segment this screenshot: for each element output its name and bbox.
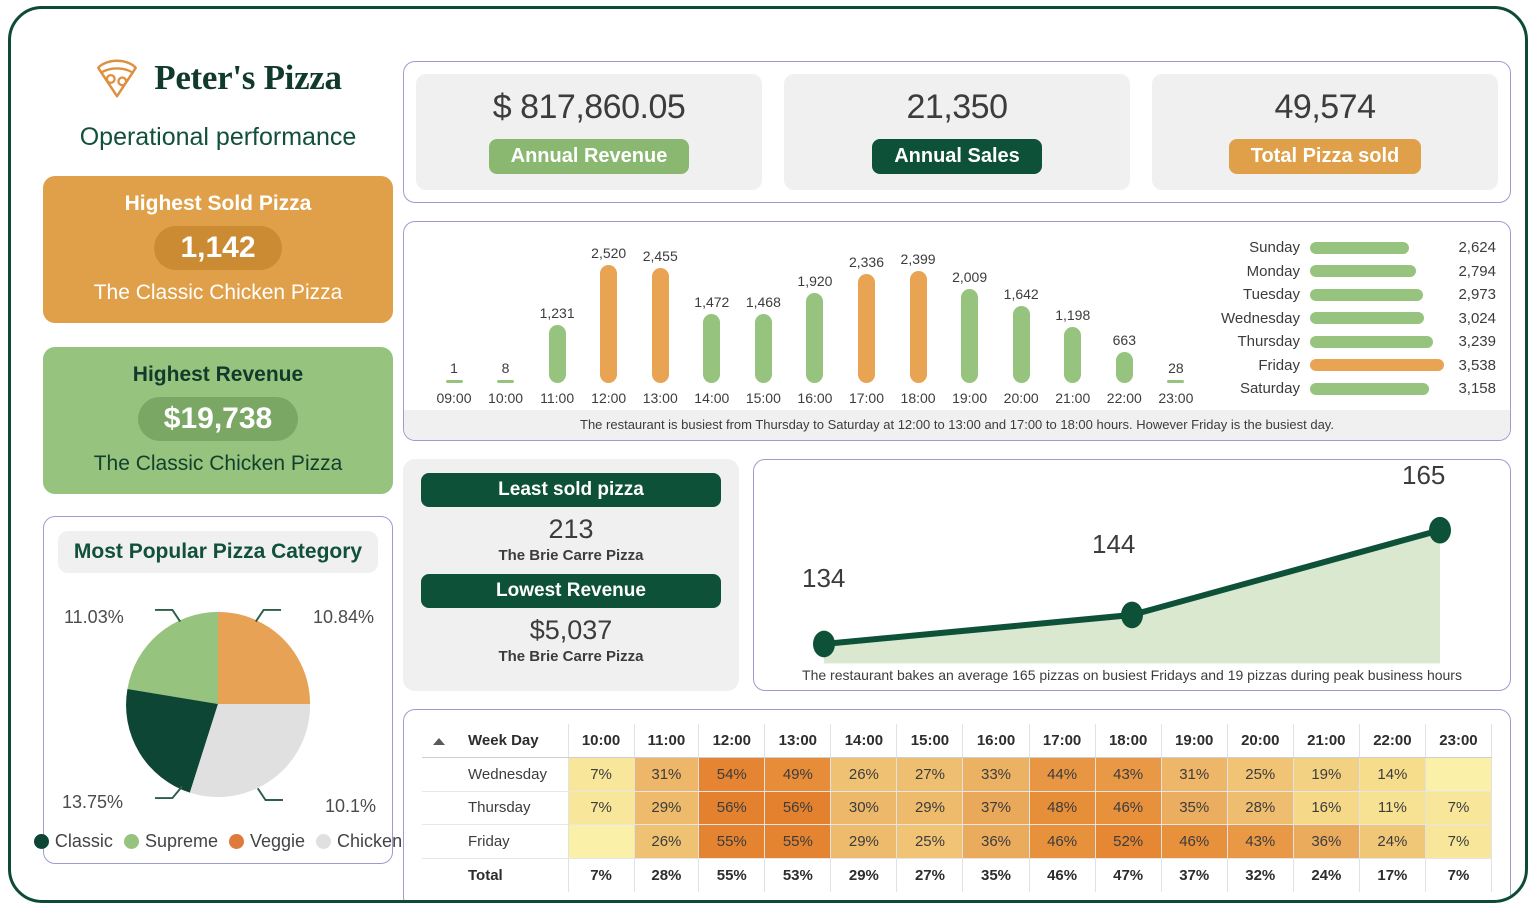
heatmap-cell[interactable]: 28% (1227, 791, 1293, 825)
heatmap-cell[interactable]: 27% (897, 758, 963, 792)
heatmap-cell[interactable]: 46% (1161, 825, 1227, 859)
hour-column-header[interactable]: 12:00 (699, 724, 765, 758)
heatmap-cell[interactable] (1425, 758, 1491, 792)
weekday-bar-row: Friday3,538 (1214, 354, 1496, 378)
heatmap-cell[interactable]: 46% (1029, 825, 1095, 859)
weekday-bar-row: Monday2,794 (1214, 260, 1496, 284)
weekday-value: 3,538 (1444, 357, 1496, 374)
weekday-value: 2,624 (1444, 239, 1496, 256)
heatmap-cell[interactable]: 26% (634, 825, 699, 859)
hour-bar-column: 2,45513:00 (636, 234, 684, 406)
sort-column-header[interactable] (422, 724, 456, 758)
heatmap-cell[interactable]: 56% (765, 791, 831, 825)
pie-legend: Classic Supreme Veggie Chicken (58, 831, 378, 852)
hour-bar-label: 17:00 (849, 390, 884, 406)
area-label-2: 144 (1092, 529, 1135, 560)
row-day-label: Thursday (456, 791, 568, 825)
weekday-sales-bar-chart: Sunday2,624Monday2,794Tuesday2,973Wednes… (1200, 234, 1500, 406)
hour-bar-value: 2,520 (591, 245, 626, 261)
weekday-name: Wednesday (1214, 310, 1310, 327)
hour-bar-value: 8 (502, 360, 510, 376)
heatmap-cell[interactable]: 27% (897, 858, 963, 892)
hour-bar[interactable] (910, 271, 927, 383)
heatmap-cell[interactable]: 26% (831, 758, 897, 792)
hour-bar-value: 2,455 (643, 248, 678, 264)
weekday-value: 3,024 (1444, 310, 1496, 327)
weekday-bar-row: Sunday2,624 (1214, 236, 1496, 260)
area-label-3: 165 (1402, 460, 1445, 491)
weekday-name: Friday (1214, 357, 1310, 374)
heatmap-cell[interactable]: 49% (765, 758, 831, 792)
heatmap-cell[interactable]: 55% (699, 825, 765, 859)
hour-bar-column: 2,33617:00 (843, 234, 891, 406)
hour-bar-label: 22:00 (1107, 390, 1142, 406)
hour-bar-column: 1,47214:00 (688, 234, 736, 406)
hour-bar-label: 09:00 (436, 390, 471, 406)
heatmap-cell[interactable]: 55% (699, 858, 765, 892)
week-day-header[interactable]: Week Day (456, 724, 568, 758)
weekday-bar[interactable] (1310, 312, 1424, 324)
least-sold-value: 213 (421, 514, 721, 545)
brand-header: Peter's Pizza (43, 47, 393, 109)
heatmap-cell[interactable] (568, 825, 634, 859)
card-footer: The Classic Chicken Pizza (57, 452, 379, 476)
row-day-label: Total (456, 858, 568, 892)
hour-column-header[interactable]: 16:00 (963, 724, 1029, 758)
hour-bar[interactable] (652, 268, 669, 383)
heatmap-cell[interactable]: 31% (1161, 758, 1227, 792)
row-spacer-cell (422, 825, 456, 859)
heatmap-cell[interactable]: 29% (831, 858, 897, 892)
weekday-bar-row: Thursday3,239 (1214, 330, 1496, 354)
heatmap-cell[interactable]: 19% (1293, 758, 1359, 792)
hour-bar-label: 10:00 (488, 390, 523, 406)
heatmap-cell[interactable]: 16% (1293, 791, 1359, 825)
heatmap-cell[interactable]: 7% (1425, 791, 1491, 825)
weekday-bar-track (1310, 359, 1444, 371)
hour-bar-label: 16:00 (797, 390, 832, 406)
lowest-revenue-sub: The Brie Carre Pizza (421, 648, 721, 665)
legend-label: Veggie (250, 831, 305, 852)
least-sold-sub: The Brie Carre Pizza (421, 547, 721, 564)
weekday-bar[interactable] (1310, 265, 1416, 277)
sort-ascending-triangle-icon[interactable] (433, 738, 445, 745)
average-bake-area-panel: 134 144 165 The restaurant bakes an aver… (753, 459, 1511, 691)
hour-bar-value: 1,198 (1055, 307, 1090, 323)
hour-column-header[interactable]: 17:00 (1029, 724, 1095, 758)
heatmap-cell[interactable]: 36% (1293, 825, 1359, 859)
heatmap-cell[interactable]: 7% (1425, 858, 1491, 892)
hour-bar[interactable] (497, 380, 514, 383)
weekday-bar[interactable] (1310, 383, 1429, 395)
area-point-3 (1429, 517, 1451, 544)
heatmap-cell[interactable]: 36% (963, 825, 1029, 859)
legend-swatch-icon (229, 834, 244, 849)
highest-sold-pizza-card: Highest Sold Pizza 1,142 The Classic Chi… (43, 176, 393, 323)
highest-revenue-card: Highest Revenue $19,738 The Classic Chic… (43, 347, 393, 494)
heatmap-cell[interactable]: 14% (1359, 758, 1425, 792)
heatmap-cell[interactable]: 46% (1095, 791, 1161, 825)
row-day-label: Wednesday (456, 758, 568, 792)
area-chart-svg (754, 460, 1510, 690)
hour-bar[interactable] (703, 314, 720, 383)
hour-bar-column: 810:00 (482, 234, 530, 406)
card-title: Highest Revenue (57, 363, 379, 387)
hour-bar-column: 109:00 (430, 234, 478, 406)
hour-bar[interactable] (1167, 380, 1184, 383)
weekday-bar-track (1310, 265, 1444, 277)
heatmap-cell[interactable]: 55% (765, 825, 831, 859)
hour-bar-column: 1,23111:00 (533, 234, 581, 406)
hour-bar-label: 18:00 (901, 390, 936, 406)
weekday-bar[interactable] (1310, 359, 1444, 371)
legend-item-supreme[interactable]: Supreme (124, 831, 218, 852)
weekday-bar-track (1310, 242, 1444, 254)
pie-slice-supreme (127, 612, 218, 704)
heatmap-cell[interactable]: 53% (765, 858, 831, 892)
hour-bar[interactable] (549, 325, 566, 383)
heatmap-cell[interactable]: 48% (1029, 791, 1095, 825)
pie-label-supreme: 11.03% (64, 607, 124, 628)
hour-column-header[interactable]: 11:00 (634, 724, 699, 758)
lowest-revenue-label: Lowest Revenue (421, 574, 721, 608)
heatmap-cell[interactable]: 43% (1227, 825, 1293, 859)
heatmap-cell[interactable]: 17% (1359, 858, 1425, 892)
hour-bar-label: 14:00 (694, 390, 729, 406)
hour-bar-column: 2,52012:00 (585, 234, 633, 406)
weekday-bar[interactable] (1310, 289, 1423, 301)
weekday-bar-row: Tuesday2,973 (1214, 283, 1496, 307)
hour-bar-value: 2,009 (952, 269, 987, 285)
hourly-share-table-panel: Week Day 10:0011:0012:0013:0014:0015:001… (403, 709, 1511, 903)
weekday-name: Thursday (1214, 333, 1310, 350)
hour-bar-column: 1,92016:00 (791, 234, 839, 406)
pizza-slice-icon (94, 55, 140, 101)
weekday-bar[interactable] (1310, 242, 1409, 254)
legend-item-veggie[interactable]: Veggie (229, 831, 305, 852)
hour-column-header[interactable]: 14:00 (831, 724, 897, 758)
heatmap-cell[interactable]: 29% (831, 825, 897, 859)
pie-leader-line (155, 786, 182, 798)
legend-label: Classic (55, 831, 113, 852)
busiest-hours-panel: 109:00810:001,23111:002,52012:002,45513:… (403, 221, 1511, 441)
weekday-bar-track (1310, 383, 1444, 395)
hour-bar-column: 66322:00 (1100, 234, 1148, 406)
pie-leader-line (256, 610, 281, 622)
table-row: Total7%28%55%53%29%27%35%46%47%37%32%24%… (422, 858, 1492, 892)
hour-bar-column: 2,39918:00 (894, 234, 942, 406)
weekday-bar-track (1310, 336, 1444, 348)
heatmap-cell[interactable]: 37% (963, 791, 1029, 825)
least-sold-pizza-card: Least sold pizza 213 The Brie Carre Pizz… (403, 459, 739, 691)
heatmap-cell[interactable]: 32% (1227, 858, 1293, 892)
hour-bar-label: 13:00 (643, 390, 678, 406)
heatmap-cell[interactable]: 7% (568, 858, 634, 892)
hour-bar-label: 19:00 (952, 390, 987, 406)
row-day-label: Friday (456, 825, 568, 859)
brand-title: Peter's Pizza (154, 58, 342, 98)
table-row: Wednesday7%31%54%49%26%27%33%44%43%31%25… (422, 758, 1492, 792)
hour-bar[interactable] (858, 274, 875, 383)
heatmap-cell[interactable]: 28% (634, 858, 699, 892)
hour-bar-column: 1,64220:00 (997, 234, 1045, 406)
heatmap-cell[interactable]: 11% (1359, 791, 1425, 825)
hour-bar-value: 1,468 (746, 294, 781, 310)
card-title: Highest Sold Pizza (57, 192, 379, 216)
pizza-category-panel: Most Popular Pizza Category (43, 516, 393, 864)
hour-column-header[interactable]: 10:00 (568, 724, 634, 758)
table-header-row: Week Day 10:0011:0012:0013:0014:0015:001… (422, 724, 1492, 758)
hour-bar[interactable] (600, 265, 617, 383)
kpi-label: Annual Revenue (489, 139, 690, 174)
legend-item-chicken[interactable]: Chicken (316, 831, 402, 852)
heatmap-cell[interactable]: 7% (1425, 825, 1491, 859)
heatmap-cell[interactable]: 33% (963, 758, 1029, 792)
hour-column-header[interactable]: 13:00 (765, 724, 831, 758)
legend-label: Chicken (337, 831, 402, 852)
hour-bar-value: 1,642 (1004, 286, 1039, 302)
heatmap-cell[interactable]: 35% (1161, 791, 1227, 825)
least-sold-label: Least sold pizza (421, 473, 721, 507)
heatmap-cell[interactable]: 46% (1029, 858, 1095, 892)
row-spacer-cell (422, 858, 456, 892)
kpi-annual-sales: 21,350 Annual Sales (784, 74, 1130, 190)
hour-bar-label: 23:00 (1158, 390, 1193, 406)
hour-bar-label: 11:00 (540, 390, 574, 406)
left-column: Peter's Pizza Operational performance Hi… (43, 47, 393, 864)
pie-label-veggie: 10.84% (313, 607, 374, 628)
heatmap-cell[interactable]: 47% (1095, 858, 1161, 892)
hour-bar[interactable] (446, 380, 463, 383)
pie-leader-line (155, 610, 180, 622)
heatmap-cell[interactable]: 7% (568, 758, 634, 792)
hour-bar-value: 663 (1113, 332, 1136, 348)
heatmap-cell[interactable]: 54% (699, 758, 765, 792)
card-footer: The Classic Chicken Pizza (57, 281, 379, 305)
hour-bar-label: 20:00 (1004, 390, 1039, 406)
weekday-bar-row: Wednesday3,024 (1214, 307, 1496, 331)
kpi-value: 49,574 (1162, 88, 1488, 127)
heatmap-cell[interactable]: 44% (1029, 758, 1095, 792)
hour-bar[interactable] (806, 293, 823, 383)
hour-bar-value: 1,472 (694, 294, 729, 310)
heatmap-cell[interactable]: 29% (897, 791, 963, 825)
row-spacer-cell (422, 791, 456, 825)
weekday-value: 3,239 (1444, 333, 1496, 350)
hour-column-header[interactable]: 20:00 (1227, 724, 1293, 758)
heatmap-cell[interactable]: 52% (1095, 825, 1161, 859)
legend-label: Supreme (145, 831, 218, 852)
hour-bar-value: 2,399 (901, 251, 936, 267)
kpi-label: Annual Sales (872, 139, 1042, 174)
area-label-1: 134 (802, 563, 845, 594)
table-row: Friday26%55%55%29%25%36%46%52%46%43%36%2… (422, 825, 1492, 859)
hour-bar-value: 1,920 (797, 273, 832, 289)
heatmap-cell[interactable]: 25% (897, 825, 963, 859)
weekday-bar-track (1310, 289, 1444, 301)
hourly-share-table: Week Day 10:0011:0012:0013:0014:0015:001… (422, 724, 1492, 892)
hour-bar-value: 1 (450, 360, 458, 376)
hour-bar[interactable] (1013, 306, 1030, 383)
weekday-name: Sunday (1214, 239, 1310, 256)
kpi-value: $ 817,860.05 (426, 88, 752, 127)
hour-bar-label: 21:00 (1055, 390, 1090, 406)
weekday-bar-row: Saturday3,158 (1214, 377, 1496, 401)
hour-column-header[interactable]: 22:00 (1359, 724, 1425, 758)
heatmap-cell[interactable]: 25% (1227, 758, 1293, 792)
weekday-bar[interactable] (1310, 336, 1433, 348)
hour-bar-label: 15:00 (746, 390, 781, 406)
weekday-bar-track (1310, 312, 1444, 324)
legend-swatch-icon (316, 834, 331, 849)
heatmap-cell[interactable]: 43% (1095, 758, 1161, 792)
heatmap-cell[interactable]: 7% (568, 791, 634, 825)
heatmap-cell[interactable]: 24% (1293, 858, 1359, 892)
hourly-sales-bar-chart: 109:00810:001,23111:002,52012:002,45513:… (414, 234, 1200, 406)
area-point-1 (813, 631, 835, 658)
legend-item-classic[interactable]: Classic (34, 831, 113, 852)
area-point-2 (1121, 602, 1143, 629)
hour-bar[interactable] (755, 314, 772, 383)
hour-bar[interactable] (961, 289, 978, 383)
weekday-value: 2,794 (1444, 263, 1496, 280)
kpi-label: Total Pizza sold (1229, 139, 1422, 174)
pie-chart: 11.03% 10.84% 13.75% 10.1% (58, 579, 378, 829)
hour-bar[interactable] (1064, 327, 1081, 383)
hour-column-header[interactable]: 23:00 (1425, 724, 1491, 758)
hour-column-header[interactable]: 18:00 (1095, 724, 1161, 758)
hour-bar-value: 1,231 (540, 305, 575, 321)
hour-bar-column: 1,19821:00 (1049, 234, 1097, 406)
card-value: $19,738 (138, 397, 298, 441)
heatmap-cell[interactable]: 24% (1359, 825, 1425, 859)
pie-slice-veggie (218, 612, 310, 704)
hour-bar-value: 2,336 (849, 254, 884, 270)
pie-leader-line (258, 788, 283, 800)
weekday-name: Saturday (1214, 380, 1310, 397)
pie-chart-title: Most Popular Pizza Category (58, 531, 378, 573)
table-row: Thursday7%29%56%56%30%29%37%48%46%35%28%… (422, 791, 1492, 825)
hour-column-header[interactable]: 15:00 (897, 724, 963, 758)
kpi-annual-revenue: $ 817,860.05 Annual Revenue (416, 74, 762, 190)
heatmap-cell[interactable]: 35% (963, 858, 1029, 892)
bar-chart-caption: The restaurant is busiest from Thursday … (404, 410, 1510, 440)
card-value: 1,142 (154, 226, 281, 270)
row-spacer-cell (422, 758, 456, 792)
hour-bar-column: 2823:00 (1152, 234, 1200, 406)
hour-bar-column: 1,46815:00 (739, 234, 787, 406)
weekday-value: 2,973 (1444, 286, 1496, 303)
lowest-revenue-value: $5,037 (421, 615, 721, 646)
pie-label-classic: 13.75% (62, 792, 123, 813)
weekday-name: Tuesday (1214, 286, 1310, 303)
area-chart-caption: The restaurant bakes an average 165 pizz… (754, 667, 1510, 683)
hour-bar-value: 28 (1168, 360, 1184, 376)
legend-swatch-icon (34, 834, 49, 849)
heatmap-cell[interactable]: 30% (831, 791, 897, 825)
hour-column-header[interactable]: 19:00 (1161, 724, 1227, 758)
bar-panel-body: 109:00810:001,23111:002,52012:002,45513:… (404, 222, 1510, 410)
pie-label-chicken: 10.1% (325, 796, 376, 817)
weekday-name: Monday (1214, 263, 1310, 280)
brand-subtitle: Operational performance (43, 123, 393, 152)
weekday-value: 3,158 (1444, 380, 1496, 397)
heatmap-cell[interactable]: 29% (634, 791, 699, 825)
mid-row: Least sold pizza 213 The Brie Carre Pizz… (403, 459, 1511, 691)
hour-bar-label: 12:00 (591, 390, 626, 406)
kpi-total-pizza-sold: 49,574 Total Pizza sold (1152, 74, 1498, 190)
hour-column-header[interactable]: 21:00 (1293, 724, 1359, 758)
heatmap-cell[interactable]: 56% (699, 791, 765, 825)
hour-bar[interactable] (1116, 352, 1133, 383)
right-column: $ 817,860.05 Annual Revenue 21,350 Annua… (403, 61, 1511, 903)
dashboard-frame: Peter's Pizza Operational performance Hi… (8, 6, 1528, 903)
kpi-strip: $ 817,860.05 Annual Revenue 21,350 Annua… (403, 61, 1511, 203)
hour-bar-column: 2,00919:00 (946, 234, 994, 406)
heatmap-cell[interactable]: 31% (634, 758, 699, 792)
kpi-value: 21,350 (794, 88, 1120, 127)
heatmap-cell[interactable]: 37% (1161, 858, 1227, 892)
legend-swatch-icon (124, 834, 139, 849)
